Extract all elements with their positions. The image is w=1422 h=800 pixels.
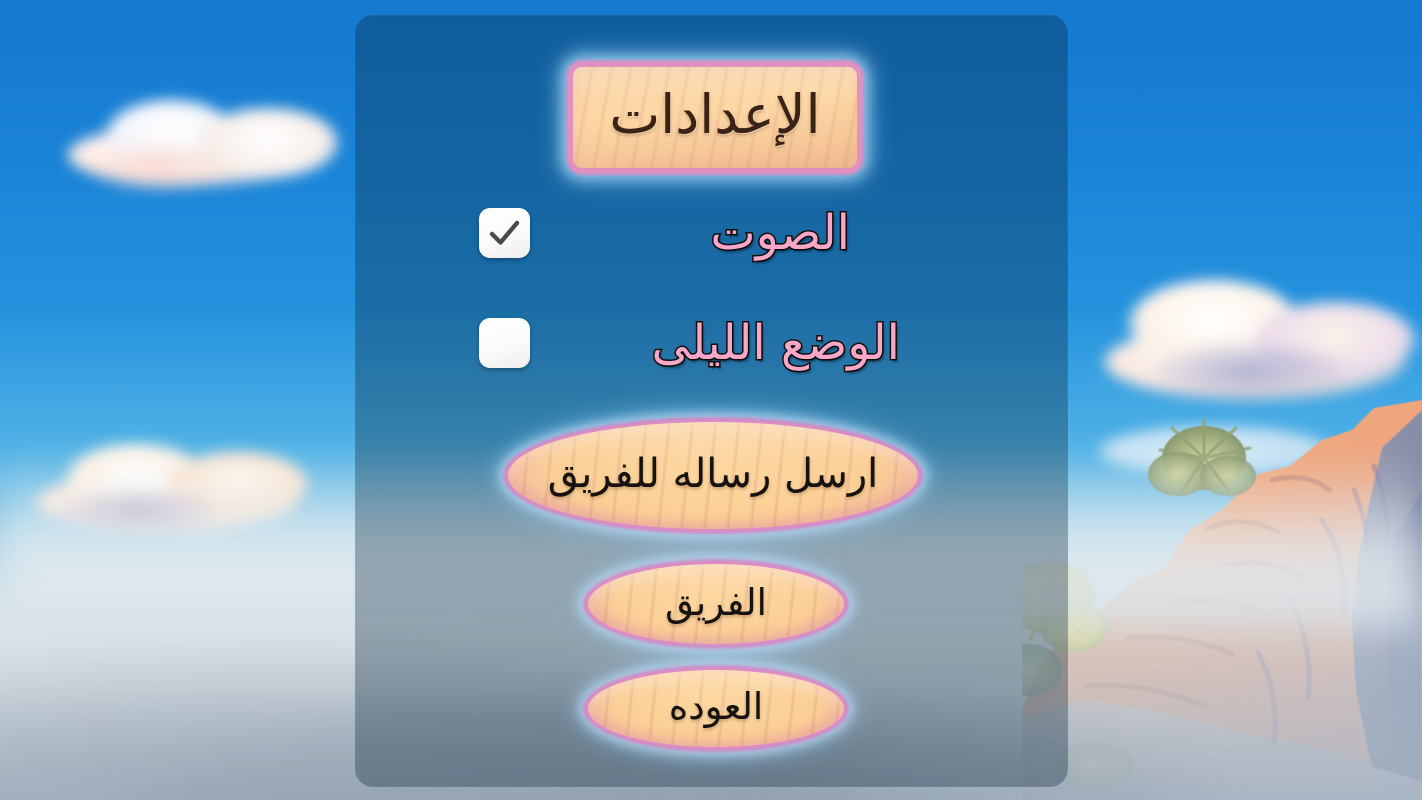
option-row-night-mode[interactable]: الوضع الليلى <box>470 306 900 380</box>
team-label: الفريق <box>665 584 767 621</box>
option-label-sound: الصوت <box>710 196 850 270</box>
settings-title-plaque: الإعدادات <box>568 62 862 173</box>
check-mark-icon <box>479 208 530 258</box>
send-message-to-team-label: ارسل رساله للفريق <box>548 454 879 494</box>
game-screen: الإعدادات الصوت الوضع الليلى ارسل رساله … <box>0 0 1422 800</box>
back-label: العوده <box>669 688 763 725</box>
checkbox-night-mode[interactable] <box>479 318 530 368</box>
team-button[interactable]: الفريق <box>585 561 847 647</box>
checkbox-sound[interactable] <box>479 208 530 258</box>
back-button[interactable]: العوده <box>585 667 847 750</box>
option-label-night-mode: الوضع الليلى <box>651 306 900 380</box>
option-row-sound[interactable]: الصوت <box>470 196 850 270</box>
send-message-to-team-button[interactable]: ارسل رساله للفريق <box>505 419 921 532</box>
page-title: الإعدادات <box>609 88 820 142</box>
